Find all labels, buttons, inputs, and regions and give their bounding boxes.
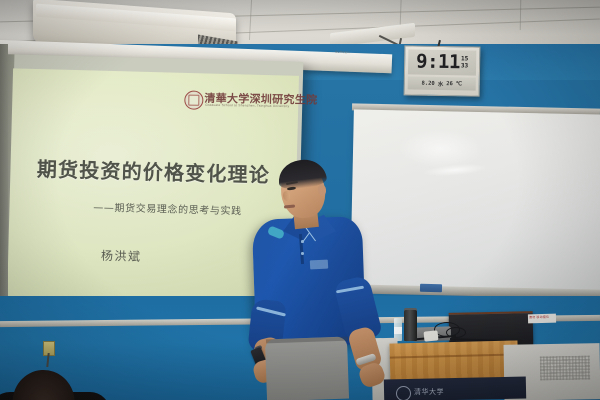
shirt-button [301,240,304,243]
tsinghua-seal-icon [184,91,203,110]
slide-logo-english: Graduate School at Shenzhen, Tsinghua Un… [205,103,289,108]
shirt-chest-logo [310,260,328,270]
wall-left-strip [0,44,8,324]
whiteboard-eraser[interactable] [420,284,442,292]
chair-sign-text: 请勿 移动座位 [529,315,549,319]
speaker-grille [540,356,590,381]
presenter-trousers [265,337,349,400]
clock-secondary-display: 8.20 水 26 ℃ [408,76,476,90]
chair-sign: 请勿 移动座位 [528,314,556,324]
university-emblem-icon [396,386,411,400]
clock-time: 9:11 [416,53,460,73]
clock-unit: ℃ [456,81,462,87]
slide-university-logo: 清華大学深圳研究生院 Graduate School at Shenzhen, … [184,90,304,114]
presenter-person [248,160,398,400]
wall-clock: 9:11 15 33 8.20 水 26 ℃ [404,45,481,96]
screen-housing-label: SCREEN [335,50,350,55]
clock-date: 8.20 [421,80,434,86]
thermos-flask[interactable] [404,310,417,341]
podium-banner-text: 清华大学 [414,387,444,397]
clock-display: 9:11 15 33 [408,49,476,75]
tissue-pack[interactable] [424,330,439,341]
presenter-nose [282,191,290,202]
clock-seconds: 15 33 [461,57,468,70]
clock-weekday: 水 [438,79,444,87]
shirt-button [301,252,304,255]
clock-temperature: 26 [446,81,453,87]
lecture-hall-photo: SCREEN 9:11 15 33 8.20 水 26 ℃ 清華大学深圳研究生院… [0,0,600,400]
